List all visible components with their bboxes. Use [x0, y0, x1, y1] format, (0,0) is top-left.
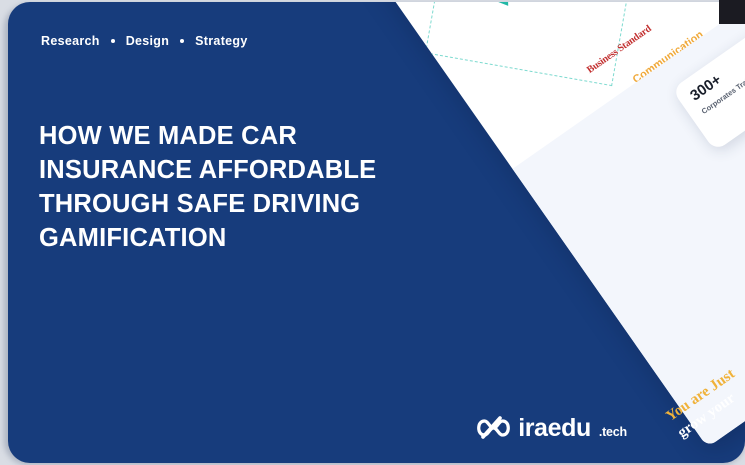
- brand-name: iraedu: [518, 416, 591, 441]
- bullet-dot-icon: [180, 39, 184, 43]
- nav-tags: Research Design Strategy: [41, 34, 248, 48]
- page-title: HOW WE MADE CAR INSURANCE AFFORDABLE THR…: [39, 120, 399, 256]
- bullet-dot-icon: [111, 39, 115, 43]
- brand-logo[interactable]: iraedu .tech: [475, 415, 627, 441]
- brand-tld: .tech: [599, 425, 627, 441]
- nav-tag-strategy[interactable]: Strategy: [195, 34, 247, 48]
- infinity-slash-icon: [475, 415, 511, 441]
- nav-tag-research[interactable]: Research: [41, 34, 100, 48]
- presentation-card: iraedu Unlock ✱ ✱ Engineering Communicat…: [8, 2, 745, 463]
- slide-canvas: iraedu Unlock ✱ ✱ Engineering Communicat…: [0, 0, 745, 465]
- corner-clip: [719, 0, 745, 24]
- nav-tag-design[interactable]: Design: [126, 34, 169, 48]
- dotted-diamond-outer: [425, 2, 645, 86]
